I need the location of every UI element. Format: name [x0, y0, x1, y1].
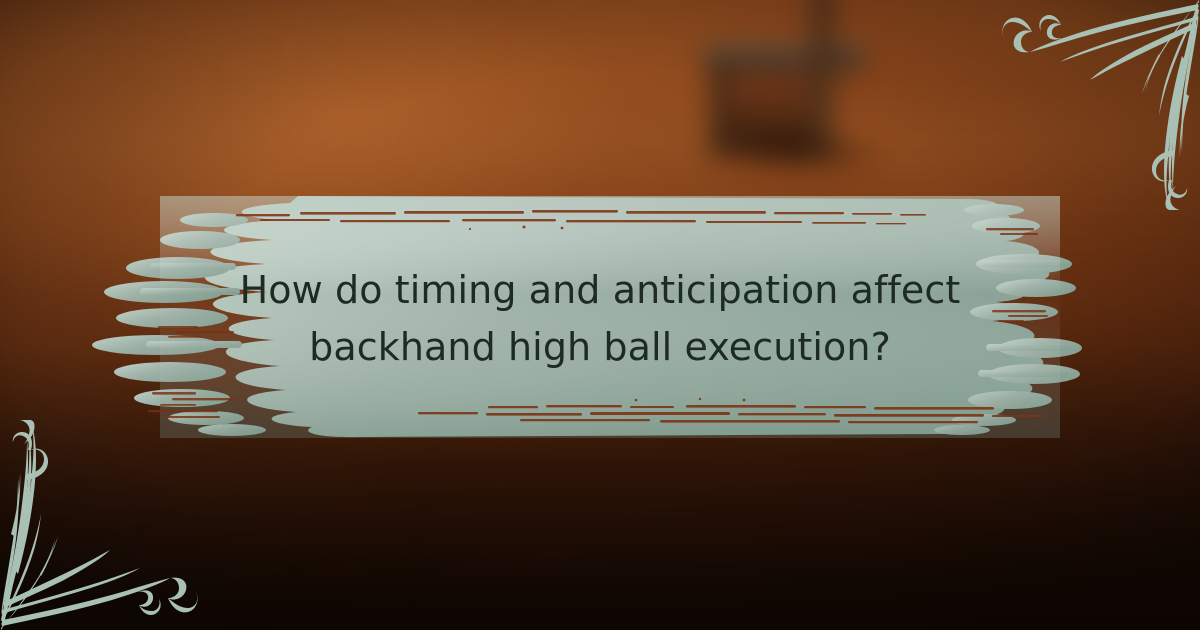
- page-title: How do timing and anticipation affect ba…: [170, 262, 1030, 376]
- poster-canvas: How do timing and anticipation affect ba…: [0, 0, 1200, 630]
